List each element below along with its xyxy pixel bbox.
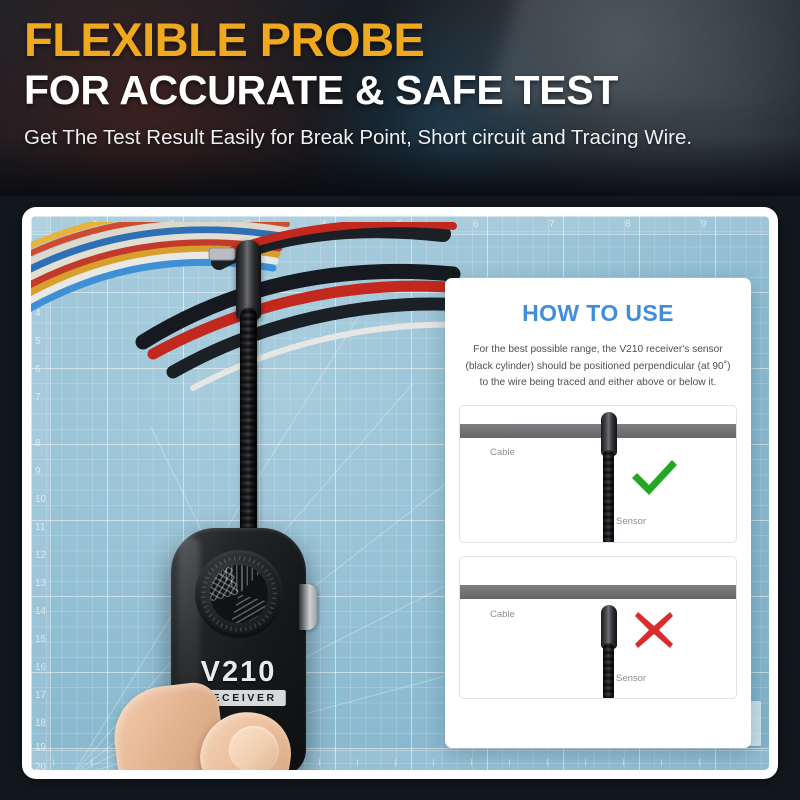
sensor-label: Sensor <box>616 673 646 684</box>
headline-primary: FLEXIBLE PROBE <box>24 16 692 64</box>
panel-description: For the best possible range, the V210 re… <box>459 342 737 392</box>
cable-label: Cable <box>490 609 515 620</box>
sensor-neck-icon <box>603 450 614 543</box>
cable-bar <box>460 424 736 438</box>
device-type-label: RECEIVER <box>191 690 285 706</box>
cable-label: Cable <box>490 447 515 458</box>
sensor-tip-icon <box>601 412 617 456</box>
product-photo: 1 2 3 4 5 6 7 8 9 2 3 4 5 6 7 8 9 10 11 … <box>31 216 769 770</box>
panel-title: HOW TO USE <box>459 300 737 327</box>
device-model-label: V210 <box>171 656 306 689</box>
sensor-tip-icon <box>601 605 617 649</box>
cross-mark-icon <box>632 609 676 651</box>
device-power-button[interactable] <box>206 718 272 766</box>
v210-receiver-device: V210 RECEIVER <box>171 528 306 770</box>
speaker-mesh <box>210 565 268 623</box>
usage-case-correct: Cable Sensor <box>459 405 737 543</box>
header-banner: FLEXIBLE PROBE FOR ACCURATE & SAFE TEST … <box>0 0 800 196</box>
usage-case-incorrect: Cable Sensor <box>459 556 737 699</box>
headline-secondary: FOR ACCURATE & SAFE TEST <box>24 66 692 114</box>
sensor-label: Sensor <box>616 516 646 527</box>
how-to-use-panel: HOW TO USE For the best possible range, … <box>445 278 751 748</box>
cable-bar <box>460 585 736 599</box>
product-photo-frame: 1 2 3 4 5 6 7 8 9 2 3 4 5 6 7 8 9 10 11 … <box>22 207 778 779</box>
device-side-button[interactable] <box>299 584 317 630</box>
speaker-grille-icon <box>195 550 283 638</box>
mat-bottom-ticks <box>53 754 769 766</box>
sensor-neck-icon <box>603 643 614 699</box>
header-subtitle: Get The Test Result Easily for Break Poi… <box>24 125 692 152</box>
check-mark-icon <box>628 456 680 498</box>
header-text-block: FLEXIBLE PROBE FOR ACCURATE & SAFE TEST … <box>24 16 692 152</box>
